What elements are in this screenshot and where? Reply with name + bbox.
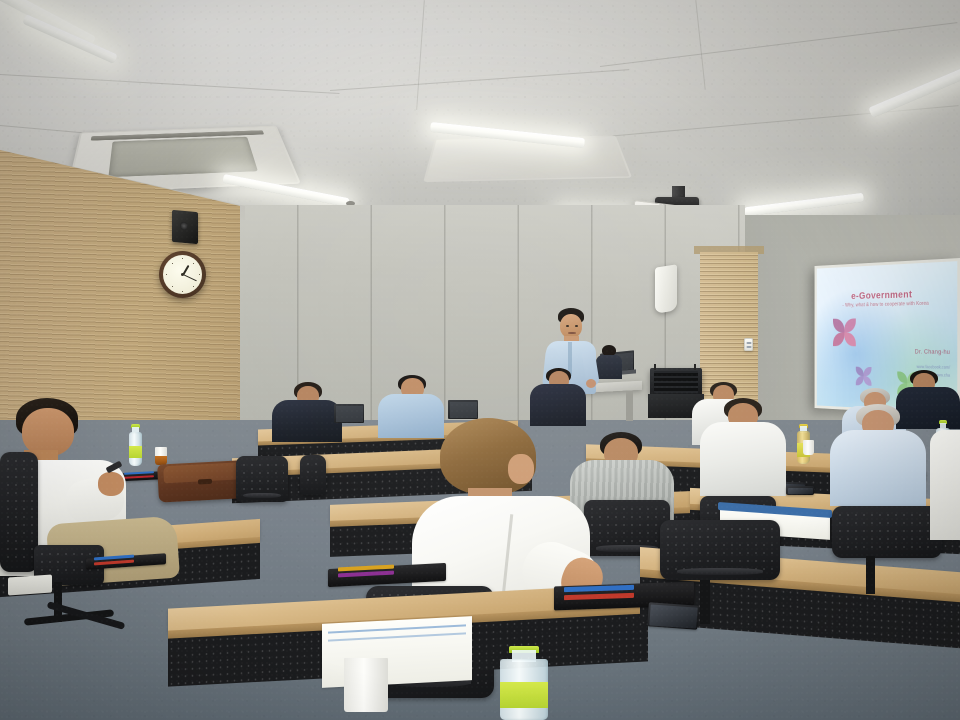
- water-bottle-front[interactable]: [500, 646, 548, 720]
- ac-grille: [108, 136, 258, 176]
- seminar-room-photo: e-Government - Why, what & how to cooper…: [0, 0, 960, 720]
- paper-cup-front[interactable]: [344, 658, 388, 712]
- white-wall-speaker: [655, 264, 677, 313]
- presenter-mouth: [568, 332, 576, 334]
- presenter-table-leg: [626, 391, 633, 421]
- paper-cup-right[interactable]: [803, 440, 814, 455]
- small-container: [8, 574, 52, 595]
- av-antenna: [694, 364, 696, 370]
- attendee-grey-hair-b: [830, 404, 926, 502]
- bag-clasp: [198, 479, 212, 485]
- mesh-office-chair-right[interactable]: [832, 506, 942, 558]
- clock-minute-hand: [182, 274, 196, 282]
- clock-center-pin: [181, 273, 184, 276]
- chair-post-right: [700, 580, 710, 624]
- mesh-office-chair[interactable]: [236, 456, 288, 502]
- ceiling-air-conditioner-secondary: [423, 136, 632, 183]
- black-box-speaker-icon: [172, 210, 198, 244]
- speaker-cone: [180, 222, 188, 231]
- presenter-hand: [586, 379, 596, 388]
- attendee-seated-front-assistant: [596, 345, 622, 377]
- slide-url-facebook: www.facebook.com/: [916, 364, 950, 370]
- attendee-right-white-b: [700, 398, 786, 494]
- mesh-office-chair-front-left[interactable]: [0, 452, 38, 572]
- chair-post-right-b: [866, 556, 875, 594]
- woman-face-side: [508, 454, 534, 484]
- smartphone-center[interactable]: [786, 486, 814, 495]
- slide-presenter-name: Dr. Chang-hu: [915, 349, 950, 356]
- power-outlet-right[interactable]: [744, 338, 753, 351]
- attendee-back-right: [930, 430, 960, 540]
- pinwheel-decoration-icon: [833, 318, 856, 346]
- av-antenna: [654, 364, 656, 370]
- attendee-hand: [98, 472, 124, 496]
- attendee-dark-suit-mid: [530, 368, 586, 424]
- clock-face: [163, 255, 202, 294]
- presenter-eye: [575, 325, 578, 327]
- pinwheel-decoration-icon: [856, 367, 872, 386]
- presenter-eye: [566, 325, 569, 327]
- mesh-office-chair[interactable]: [300, 455, 326, 495]
- attendee-navy-suit: [272, 382, 342, 438]
- smartphone-front[interactable]: [647, 602, 699, 629]
- analog-wall-clock: [159, 251, 206, 298]
- presenter-head: [560, 314, 582, 338]
- laptop-row1-a[interactable]: [334, 404, 364, 426]
- mesh-office-chair-front-right[interactable]: [660, 520, 780, 580]
